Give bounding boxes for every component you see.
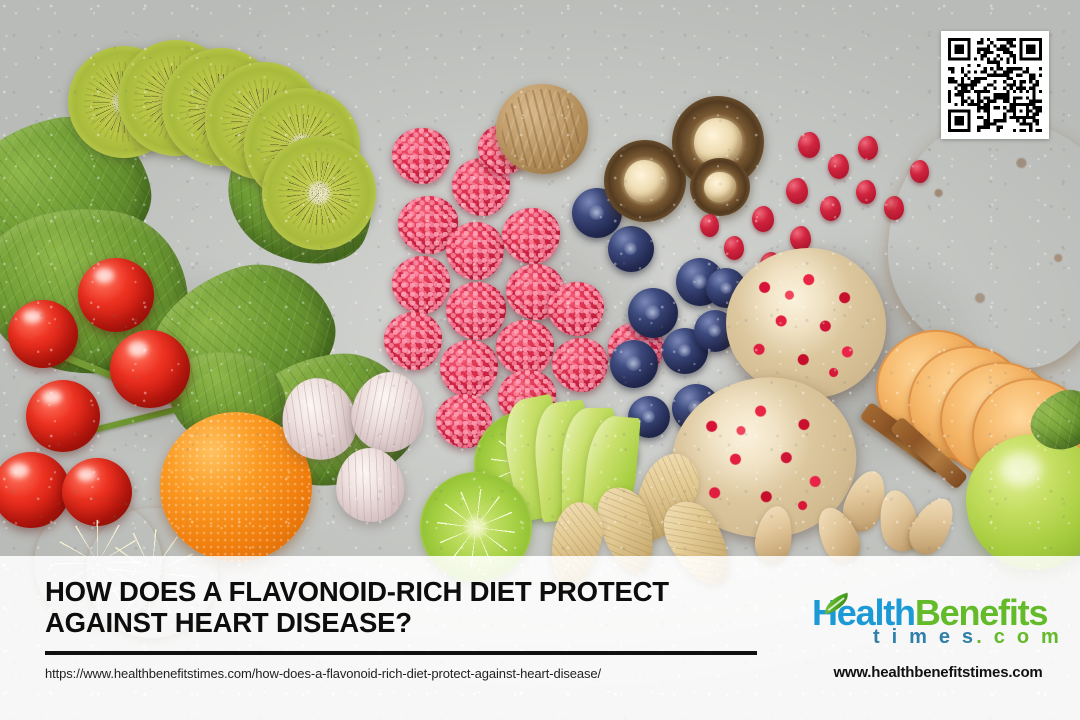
food-blueberry (662, 328, 708, 374)
food-pomegranate-aril (910, 160, 929, 183)
food-almond (837, 466, 892, 537)
food-walnut-half (672, 96, 764, 188)
food-pomegranate-aril (724, 236, 744, 260)
logo-wordmark: HealthBenefits (812, 594, 1064, 632)
food-raspberry (478, 124, 530, 174)
food-raspberry (392, 128, 450, 184)
photo-shadow (40, 260, 320, 460)
food-pomegranate-aril (828, 154, 849, 179)
page-title: HOW DOES A FLAVONOID-RICH DIET PROTECT A… (45, 576, 745, 638)
food-raspberry (502, 208, 560, 264)
food-cinnamon-stick (890, 416, 969, 490)
food-pomegranate-aril (752, 206, 774, 232)
food-walnut-half (604, 140, 686, 222)
food-blueberry (676, 258, 724, 306)
food-raspberry (446, 282, 506, 340)
food-raspberry (498, 370, 556, 426)
food-blueberry (628, 288, 678, 338)
article-url[interactable]: https://www.healthbenefitstimes.com/how-… (45, 666, 601, 681)
food-garlic-bulb (275, 372, 362, 466)
title-divider (45, 651, 757, 655)
site-logo[interactable]: HealthBenefits t i m e s. c o m (812, 594, 1064, 650)
qr-code-icon (948, 38, 1042, 132)
food-blueberry (706, 268, 746, 308)
food-sweet-potato-slice (863, 316, 1008, 458)
food-spinach-leaf (207, 115, 393, 286)
food-lettuce-leaf (157, 337, 299, 461)
food-pomegranate-aril (700, 214, 719, 237)
food-walnut-half (690, 158, 750, 216)
food-raspberry (436, 394, 492, 448)
food-sweet-potato-slice (968, 374, 1080, 496)
food-kiwi-slice (201, 58, 327, 184)
food-peanut (621, 445, 710, 551)
food-tomato-vine (40, 344, 182, 407)
food-apple-leaf (1022, 380, 1080, 460)
food-raspberry (384, 312, 442, 370)
food-kiwi-slice (114, 36, 238, 160)
food-raspberry (398, 196, 458, 254)
food-lime-slice (474, 410, 584, 518)
food-raspberry (496, 320, 554, 376)
food-pomegranate-aril (786, 178, 808, 204)
food-spinach-leaf (0, 102, 164, 288)
food-pomegranate-half (726, 248, 886, 398)
food-blueberry (608, 226, 654, 272)
food-raspberry (548, 282, 604, 336)
food-cherry-tomato (8, 300, 78, 368)
food-pomegranate-aril (858, 136, 878, 160)
food-lime-wedge (562, 408, 614, 524)
food-almond (902, 491, 962, 561)
food-pomegranate-aril (820, 196, 841, 221)
food-pomegranate-aril (790, 226, 811, 251)
food-blueberry (596, 434, 636, 474)
food-cherry-tomato (0, 452, 70, 528)
food-raspberry (506, 264, 564, 320)
food-kiwi-slice (162, 48, 280, 166)
photo-shadow (700, 230, 1000, 490)
food-orange (160, 412, 312, 562)
food-blueberry (572, 188, 622, 238)
food-green-apple (966, 434, 1080, 570)
food-pomegranate-half (662, 366, 866, 550)
food-blueberry (672, 384, 720, 432)
food-pomegranate-aril (856, 180, 876, 204)
food-pomegranate-aril (760, 252, 781, 277)
food-almond (874, 487, 924, 556)
food-lime-wedge (496, 393, 576, 522)
food-kiwi-slice (251, 125, 386, 260)
food-spinach-leaf (132, 243, 354, 438)
qr-code[interactable] (941, 31, 1049, 139)
food-pomegranate-aril (798, 132, 820, 158)
food-cherry-tomato (78, 258, 154, 332)
food-cherry-tomato (26, 380, 100, 452)
article-share-card: HOW DOES A FLAVONOID-RICH DIET PROTECT A… (0, 0, 1080, 720)
food-cherry-tomato (110, 330, 190, 408)
photo-shadow (390, 200, 680, 450)
site-url[interactable]: www.healthbenefitstimes.com (812, 664, 1064, 681)
food-raspberry (440, 340, 498, 398)
food-blueberry (628, 396, 670, 438)
food-sweet-potato-slice (897, 335, 1038, 473)
food-cherry-tomato (62, 458, 132, 526)
food-raspberry (608, 322, 664, 376)
food-raspberry (452, 158, 510, 216)
food-garlic-bulb (334, 446, 407, 525)
food-garlic-bulb (346, 367, 430, 457)
food-kiwi-slice (61, 39, 187, 165)
food-sweet-potato (888, 118, 1080, 368)
food-walnut (496, 84, 588, 174)
food-blueberry (610, 340, 658, 388)
food-tomato-vine (63, 406, 181, 441)
food-sweet-potato-slice (933, 354, 1068, 486)
food-raspberry (552, 338, 608, 392)
logo-benefits-text: Benefits (915, 592, 1047, 633)
food-blueberry (694, 310, 736, 352)
food-lime-wedge (581, 414, 641, 530)
food-raspberry (392, 256, 450, 314)
food-raspberry (446, 222, 504, 280)
food-lettuce-leaf (239, 346, 422, 493)
food-lime-wedge (530, 400, 596, 523)
food-cinnamon-stick (859, 402, 948, 475)
food-spinach-leaf (0, 194, 200, 387)
food-kiwi-slice (236, 80, 367, 211)
food-pomegranate-aril (884, 196, 904, 220)
